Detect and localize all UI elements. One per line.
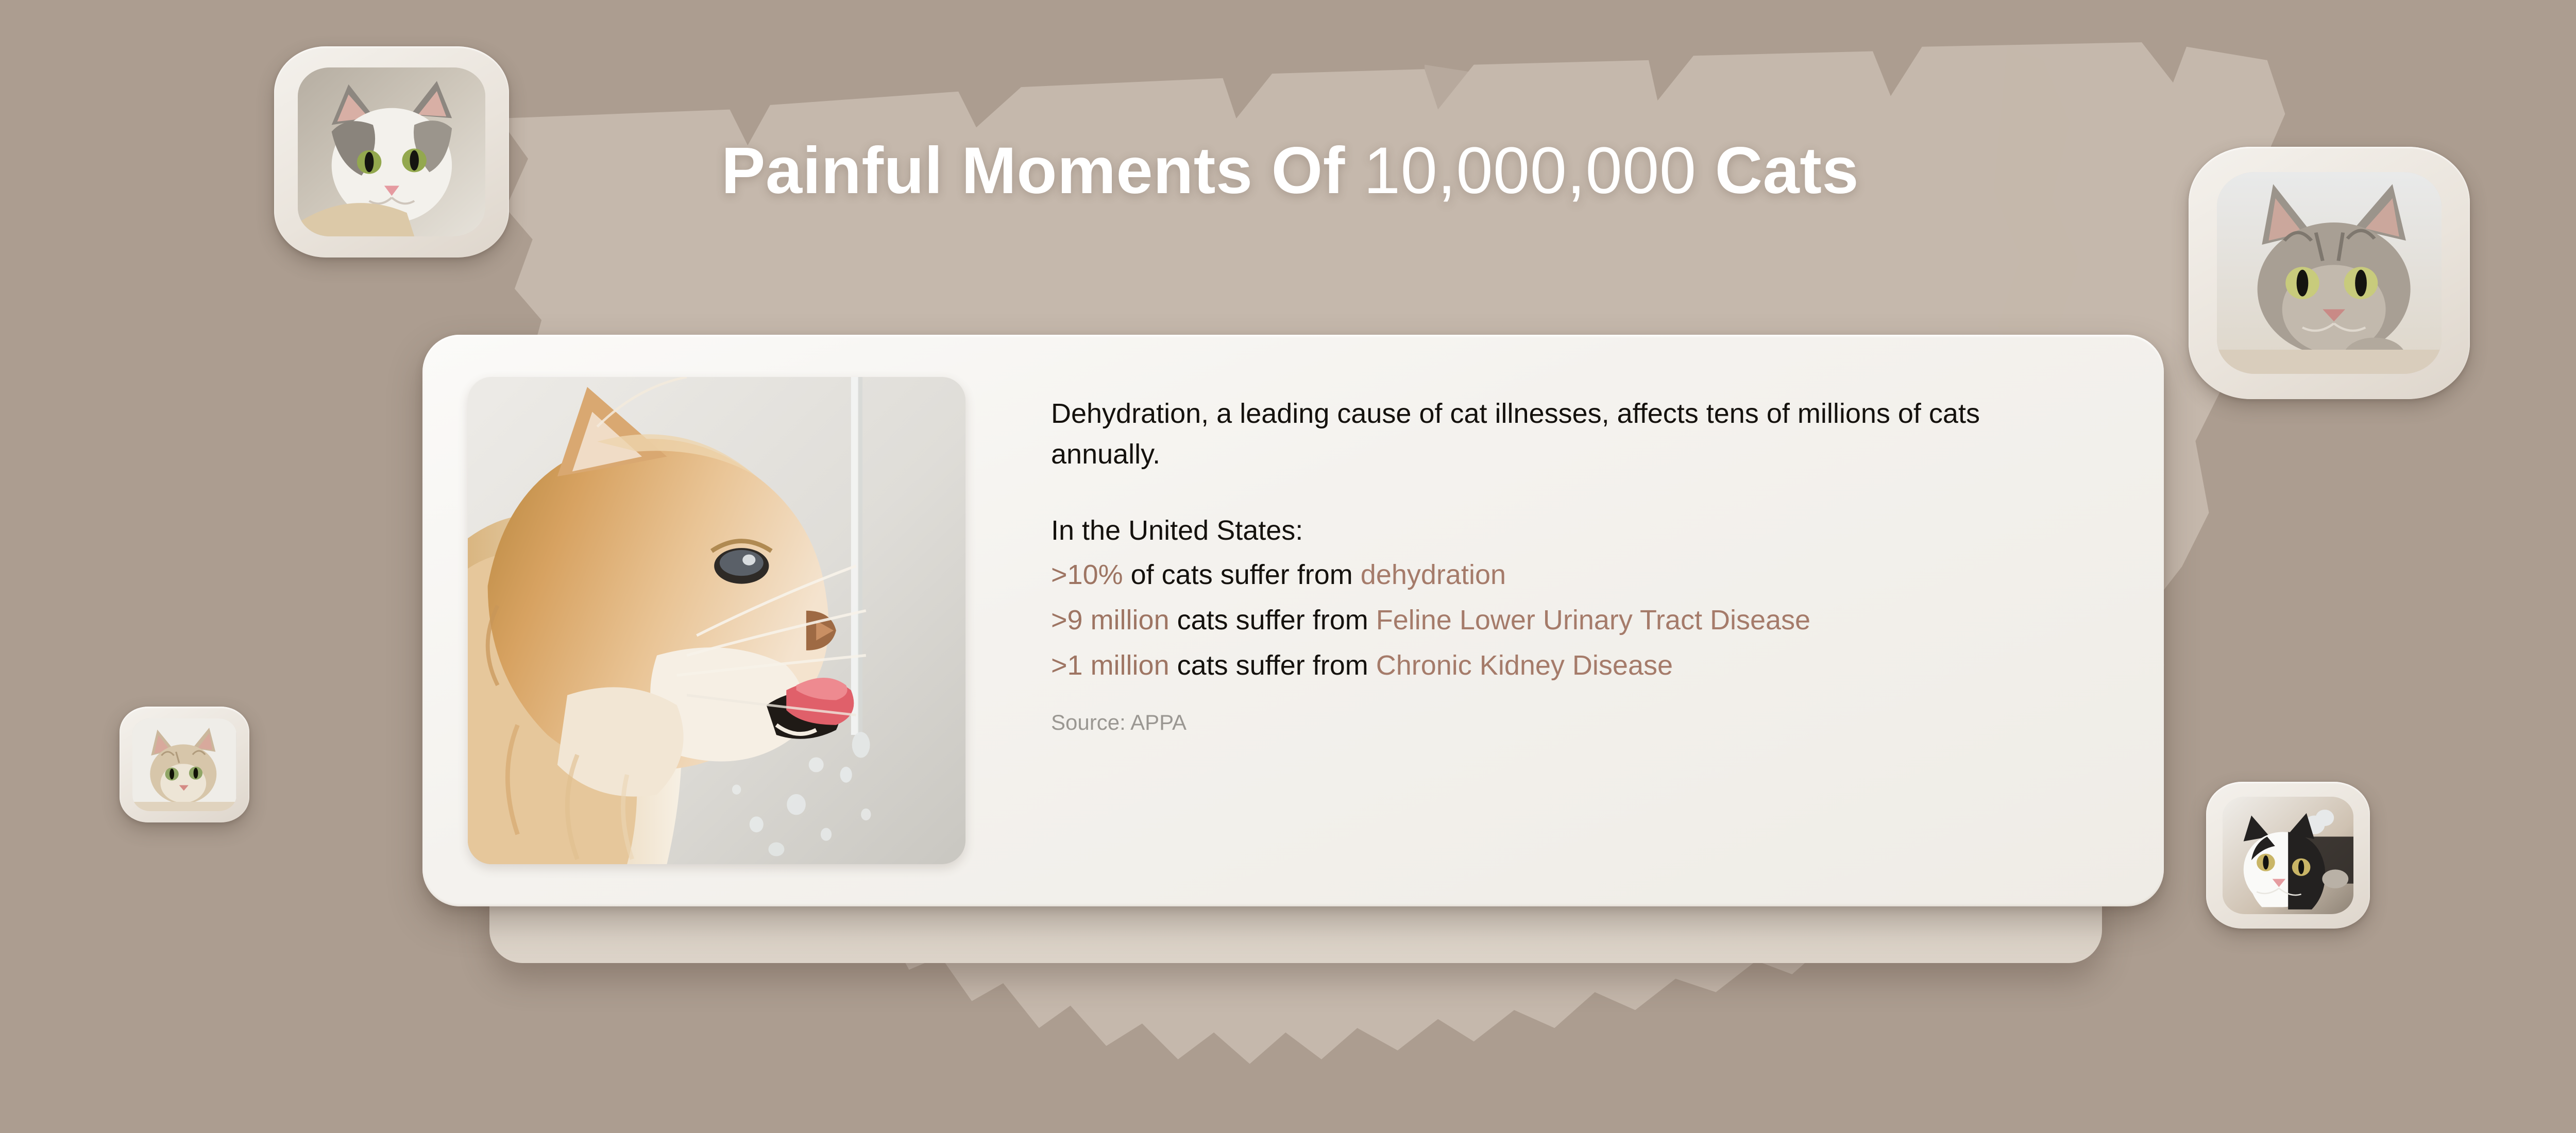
title-number: 10,000,000 [1364, 134, 1697, 208]
stat-number: >10% [1051, 559, 1123, 590]
stat-middle-text: cats suffer from [1170, 605, 1376, 636]
info-card: Dehydration, a leading cause of cat illn… [422, 335, 2164, 906]
stat-row: >1 million cats suffer from Chronic Kidn… [1051, 646, 2117, 686]
page-title: Painful Moments Of 10,000,000 Cats [0, 138, 2576, 204]
stat-number: >9 million [1051, 605, 1170, 636]
stat-condition: dehydration [1361, 559, 1506, 590]
thumbnail-photo [132, 718, 236, 811]
paragraph-spacer [1051, 475, 2117, 511]
region-lead-label: In the United States: [1051, 511, 2117, 551]
stat-condition: Feline Lower Urinary Tract Disease [1376, 605, 1810, 636]
stat-condition: Chronic Kidney Disease [1376, 650, 1673, 681]
thumbnail-photo [2223, 797, 2353, 914]
title-part-2: Cats [1697, 134, 1859, 208]
stat-middle-text: cats suffer from [1170, 650, 1376, 681]
ginger-cat-drinking-water-photo [468, 377, 965, 864]
stat-middle-text: of cats suffer from [1123, 559, 1361, 590]
stat-row: >10% of cats suffer from dehydration [1051, 555, 2117, 595]
title-part-1: Painful Moments Of [721, 134, 1364, 208]
intro-paragraph: Dehydration, a leading cause of cat illn… [1051, 393, 2071, 475]
source-attribution: Source: APPA [1051, 710, 2117, 735]
black-white-tuxedo-cat-thumbnail [2206, 782, 2370, 929]
stat-number: >1 million [1051, 650, 1170, 681]
stat-row: >9 million cats suffer from Feline Lower… [1051, 600, 2117, 641]
card-text-column: Dehydration, a leading cause of cat illn… [965, 377, 2117, 735]
infographic-page: { "background": { "base_color": "#AC9D90… [0, 0, 2576, 1133]
cream-tabby-cat-thumbnail [120, 707, 249, 822]
